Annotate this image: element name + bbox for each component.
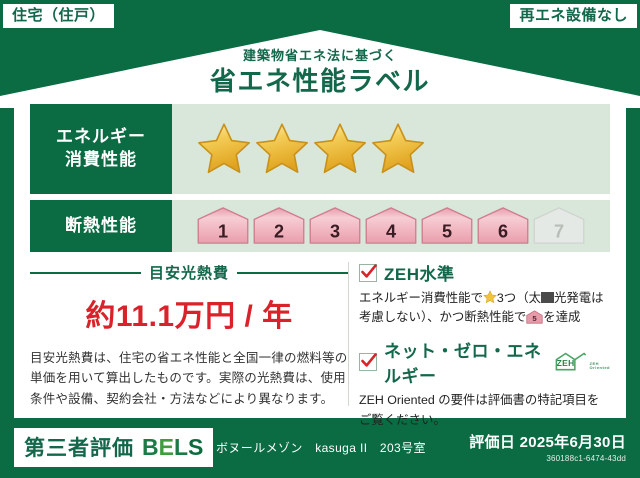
evaluation-info: 評価日 2025年6月30日 360188c1-6474-43dd <box>469 431 626 463</box>
claim-zeh-standard-body: エネルギー消費性能で3つ（太光発電は考慮しない）、かつ断熱性能で5を達成 <box>359 289 610 327</box>
bels-en-text: BELS <box>142 434 203 461</box>
evaluation-date: 評価日 2025年6月30日 <box>469 431 626 452</box>
energy-label-line1: エネルギー <box>56 126 146 149</box>
insulation-level-active: 6 <box>476 206 530 246</box>
checkbox-net-zero-energy[interactable] <box>359 353 377 371</box>
check-icon <box>360 352 378 370</box>
svg-text:ZEH: ZEH <box>556 358 574 368</box>
zeh-badge-sub2: Oriented <box>590 365 610 370</box>
house-level-icon: 5 <box>526 310 543 324</box>
insulation-level-active: 2 <box>252 206 306 246</box>
footer: 第三者評価 BELS ボヌールメゾン kasuga II 203号室 評価日 2… <box>0 424 640 478</box>
cost-heading-text: 目安光熱費 <box>149 262 229 283</box>
claim-zeh-standard-title: ZEH水準 <box>384 260 455 285</box>
cost-note: 目安光熱費は、住宅の省エネ性能と全国一律の燃料等の単価を用いて算出したものです。… <box>30 348 348 409</box>
star-icon <box>254 121 310 177</box>
svg-text:2: 2 <box>274 221 284 241</box>
main-card: エネルギー 消費性能 断熱性能 1234567 目安光熱費 約11.1万円 / … <box>14 96 626 418</box>
claim-net-zero-head: ネット・ゼロ・エネルギー ZEH ZEH Oriented <box>359 337 610 387</box>
claim-zeh-standard: ZEH水準 エネルギー消費性能で3つ（太光発電は考慮しない）、かつ断熱性能で5を… <box>359 260 610 327</box>
lower-section: 目安光熱費 約11.1万円 / 年 目安光熱費は、住宅の省エネ性能と全国一律の燃… <box>30 260 610 408</box>
star-icon <box>483 290 497 304</box>
claim-net-zero-title: ネット・ゼロ・エネルギー ZEH ZEH Oriented <box>384 337 610 387</box>
svg-text:5: 5 <box>442 221 452 241</box>
energy-performance-label: エネルギー 消費性能 <box>30 104 172 194</box>
bels-logo: 第三者評価 BELS <box>14 428 213 467</box>
bels-letter-e: E <box>159 434 174 460</box>
insulation-performance-row: 断熱性能 1234567 <box>30 200 610 252</box>
svg-text:1: 1 <box>218 221 228 241</box>
bels-jp-text: 第三者評価 <box>24 432 134 462</box>
insulation-level-active: 3 <box>308 206 362 246</box>
cost-amount: 約11.1万円 / 年 <box>30 291 348 335</box>
claim-zeh-standard-head: ZEH水準 <box>359 260 610 285</box>
property-name: ボヌールメゾン kasuga II 203号室 <box>216 439 426 456</box>
page-title: 省エネ性能ラベル <box>0 61 640 98</box>
svg-text:7: 7 <box>554 221 564 241</box>
zeh-badge-sub: ZEH Oriented <box>590 362 610 371</box>
check-icon <box>360 263 378 281</box>
star-icon <box>370 121 426 177</box>
vertical-divider <box>348 262 349 406</box>
claim-net-zero-energy: ネット・ゼロ・エネルギー ZEH ZEH Oriented <box>359 337 610 429</box>
energy-performance-row: エネルギー 消費性能 <box>30 104 610 194</box>
star-icon <box>312 121 368 177</box>
tag-building-type: 住宅（住戸） <box>3 4 114 28</box>
energy-performance-label: 住宅（住戸） 再エネ設備なし 建築物省エネ法に基づく 省エネ性能ラベル エネルギ… <box>0 0 640 478</box>
bels-letter-l: L <box>174 434 188 460</box>
insulation-level-active: 4 <box>364 206 418 246</box>
zeh-logo-badge: ZEH ZEH Oriented <box>554 352 610 372</box>
cost-panel: 目安光熱費 約11.1万円 / 年 目安光熱費は、住宅の省エネ性能と全国一律の燃… <box>30 260 348 408</box>
insulation-performance-label: 断熱性能 <box>30 200 172 252</box>
claim-text-part2: 3つ（太 <box>497 291 541 305</box>
zeh-house-icon: ZEH <box>554 352 588 372</box>
bels-letter-b: B <box>142 434 159 460</box>
evaluation-date-value: 2025年6月30日 <box>520 434 626 451</box>
insulation-level-active: 5 <box>420 206 474 246</box>
insulation-scale: 1234567 <box>172 200 610 252</box>
rule-left <box>30 272 141 274</box>
star-rating <box>172 104 610 194</box>
insulation-level-active: 1 <box>196 206 250 246</box>
claim-net-zero-title-text: ネット・ゼロ・エネルギー <box>384 337 550 387</box>
svg-text:4: 4 <box>386 221 396 241</box>
star-icon <box>196 121 252 177</box>
svg-text:6: 6 <box>498 221 508 241</box>
svg-text:5: 5 <box>533 314 538 323</box>
claim-text-part1: エネルギー消費性能で <box>359 291 483 305</box>
tag-renewable-equipment: 再エネ設備なし <box>510 4 637 28</box>
evaluation-id: 360188c1-6474-43dd <box>469 454 626 463</box>
claim-text-part4: を達成 <box>543 310 580 324</box>
bels-letter-s: S <box>188 434 203 460</box>
evaluation-date-label: 評価日 <box>469 434 515 451</box>
svg-text:3: 3 <box>330 221 340 241</box>
insulation-level-inactive: 7 <box>532 206 586 246</box>
cost-heading: 目安光熱費 <box>30 262 348 283</box>
rule-right <box>237 272 348 274</box>
energy-label-line2: 消費性能 <box>56 149 146 172</box>
redacted-block <box>541 292 554 303</box>
claims-panel: ZEH水準 エネルギー消費性能で3つ（太光発電は考慮しない）、かつ断熱性能で5を… <box>359 260 610 408</box>
checkbox-zeh-standard[interactable] <box>359 264 377 282</box>
